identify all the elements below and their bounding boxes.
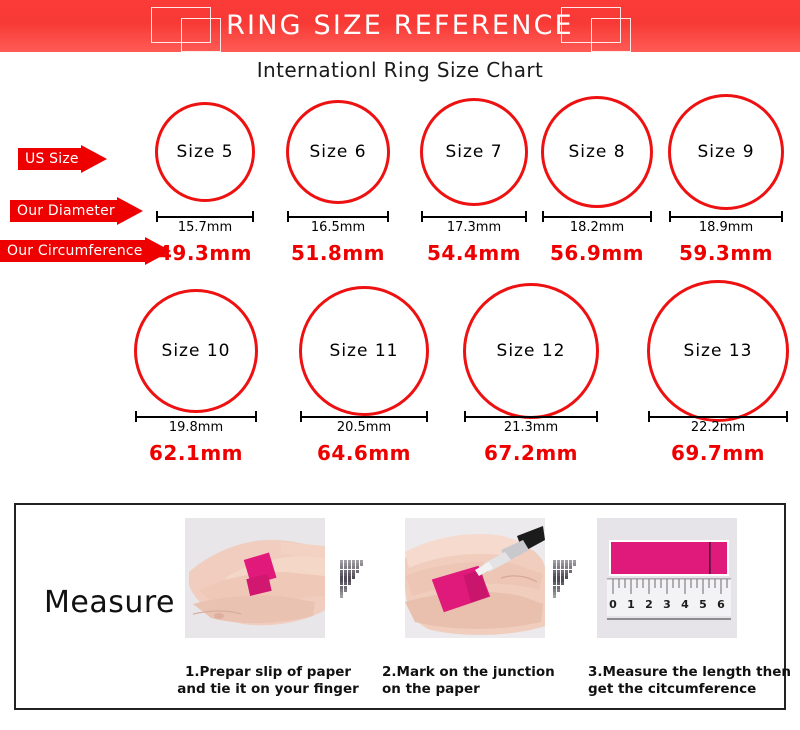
circumference-value: 51.8mm	[268, 241, 408, 265]
ring-size-label: Size 9	[697, 142, 754, 162]
dimension-cap-right	[426, 411, 428, 422]
svg-text:4: 4	[681, 598, 689, 611]
ring-circle-size-8: Size 8	[541, 96, 653, 208]
circumference-value: 54.4mm	[404, 241, 544, 265]
arrow-body: US Size	[18, 148, 82, 170]
step-3-photo-ruler-measure: 0123456	[597, 518, 737, 638]
svg-text:3: 3	[663, 598, 671, 611]
arrow-head-icon	[81, 145, 107, 173]
diameter-value: 16.5mm	[278, 220, 398, 235]
circumference-value: 49.3mm	[135, 241, 275, 265]
dimension-bar	[421, 216, 527, 218]
circumference-value: 59.3mm	[656, 241, 796, 265]
svg-text:6: 6	[717, 598, 725, 611]
step-1-photo-hand-with-paper	[185, 518, 325, 638]
ring-size-label: Size 12	[497, 341, 566, 361]
svg-text:1: 1	[627, 598, 635, 611]
diameter-value: 20.5mm	[304, 420, 424, 435]
dimension-bar	[464, 416, 598, 418]
dimension-bar	[287, 216, 389, 218]
step-separator-arrow-icon	[553, 560, 579, 600]
diameter-value: 18.2mm	[537, 220, 657, 235]
measure-heading: Measure	[44, 585, 175, 620]
header-banner: RING SIZE REFERENCE	[0, 0, 800, 52]
dimension-cap-left	[300, 411, 302, 422]
arrow-body: Our Diameter	[10, 200, 118, 222]
ring-size-label: Size 6	[309, 142, 366, 162]
ring-circle-size-7: Size 7	[420, 98, 528, 206]
row-label-text: US Size	[25, 151, 79, 167]
ring-size-label: Size 10	[162, 341, 231, 361]
dimension-bar	[542, 216, 652, 218]
row-label-diameter: Our Diameter	[10, 200, 143, 222]
dimension-bar	[300, 416, 428, 418]
ring-circle-size-13: Size 13	[647, 280, 789, 422]
diameter-value: 15.7mm	[145, 220, 265, 235]
dimension-bar	[135, 416, 257, 418]
diameter-value: 17.3mm	[414, 220, 534, 235]
ring-circle-size-12: Size 12	[463, 283, 599, 419]
ring-circle-size-10: Size 10	[134, 289, 258, 413]
circumference-value: 69.7mm	[648, 441, 788, 465]
circumference-value: 62.1mm	[126, 441, 266, 465]
arrow-body: Our Circumference	[0, 240, 146, 262]
dimension-cap-left	[648, 411, 650, 422]
dimension-cap-right	[596, 411, 598, 422]
row-label-text: Our Diameter	[17, 203, 115, 219]
svg-text:0: 0	[609, 598, 617, 611]
dimension-bar	[156, 216, 254, 218]
row-label-text: Our Circumference	[7, 243, 143, 259]
dimension-cap-left	[464, 411, 466, 422]
ring-circle-size-6: Size 6	[286, 100, 390, 204]
ring-circle-size-5: Size 5	[155, 102, 255, 202]
diameter-value: 21.3mm	[471, 420, 591, 435]
circumference-value: 67.2mm	[461, 441, 601, 465]
step-2-photo-marking-paper	[405, 518, 545, 638]
ring-circle-size-9: Size 9	[668, 94, 784, 210]
dimension-cap-right	[786, 411, 788, 422]
diameter-value: 19.8mm	[136, 420, 256, 435]
ring-size-label: Size 11	[330, 341, 399, 361]
circumference-value: 56.9mm	[527, 241, 667, 265]
dimension-bar	[669, 216, 783, 218]
svg-text:2: 2	[645, 598, 653, 611]
arrow-head-icon	[117, 197, 143, 225]
page-title: RING SIZE REFERENCE	[0, 0, 800, 52]
ring-size-label: Size 5	[176, 142, 233, 162]
dimension-bar	[648, 416, 788, 418]
diameter-value: 22.2mm	[658, 420, 778, 435]
ring-circle-size-11: Size 11	[299, 286, 429, 416]
step-3-caption: 3.Measure the length then get the citcum…	[588, 664, 798, 698]
row-label-us-size: US Size	[18, 148, 107, 170]
ring-size-label: Size 7	[445, 142, 502, 162]
step-separator-arrow-icon	[340, 560, 366, 600]
step-2-caption: 2.Mark on the junction on the paper	[382, 664, 578, 698]
step-1-caption: 1.Prepar slip of paper and tie it on you…	[168, 664, 368, 698]
ring-size-label: Size 8	[568, 142, 625, 162]
svg-text:5: 5	[699, 598, 707, 611]
ring-size-label: Size 13	[684, 341, 753, 361]
circumference-value: 64.6mm	[294, 441, 434, 465]
diameter-value: 18.9mm	[666, 220, 786, 235]
chart-subtitle: Internationl Ring Size Chart	[0, 58, 800, 82]
